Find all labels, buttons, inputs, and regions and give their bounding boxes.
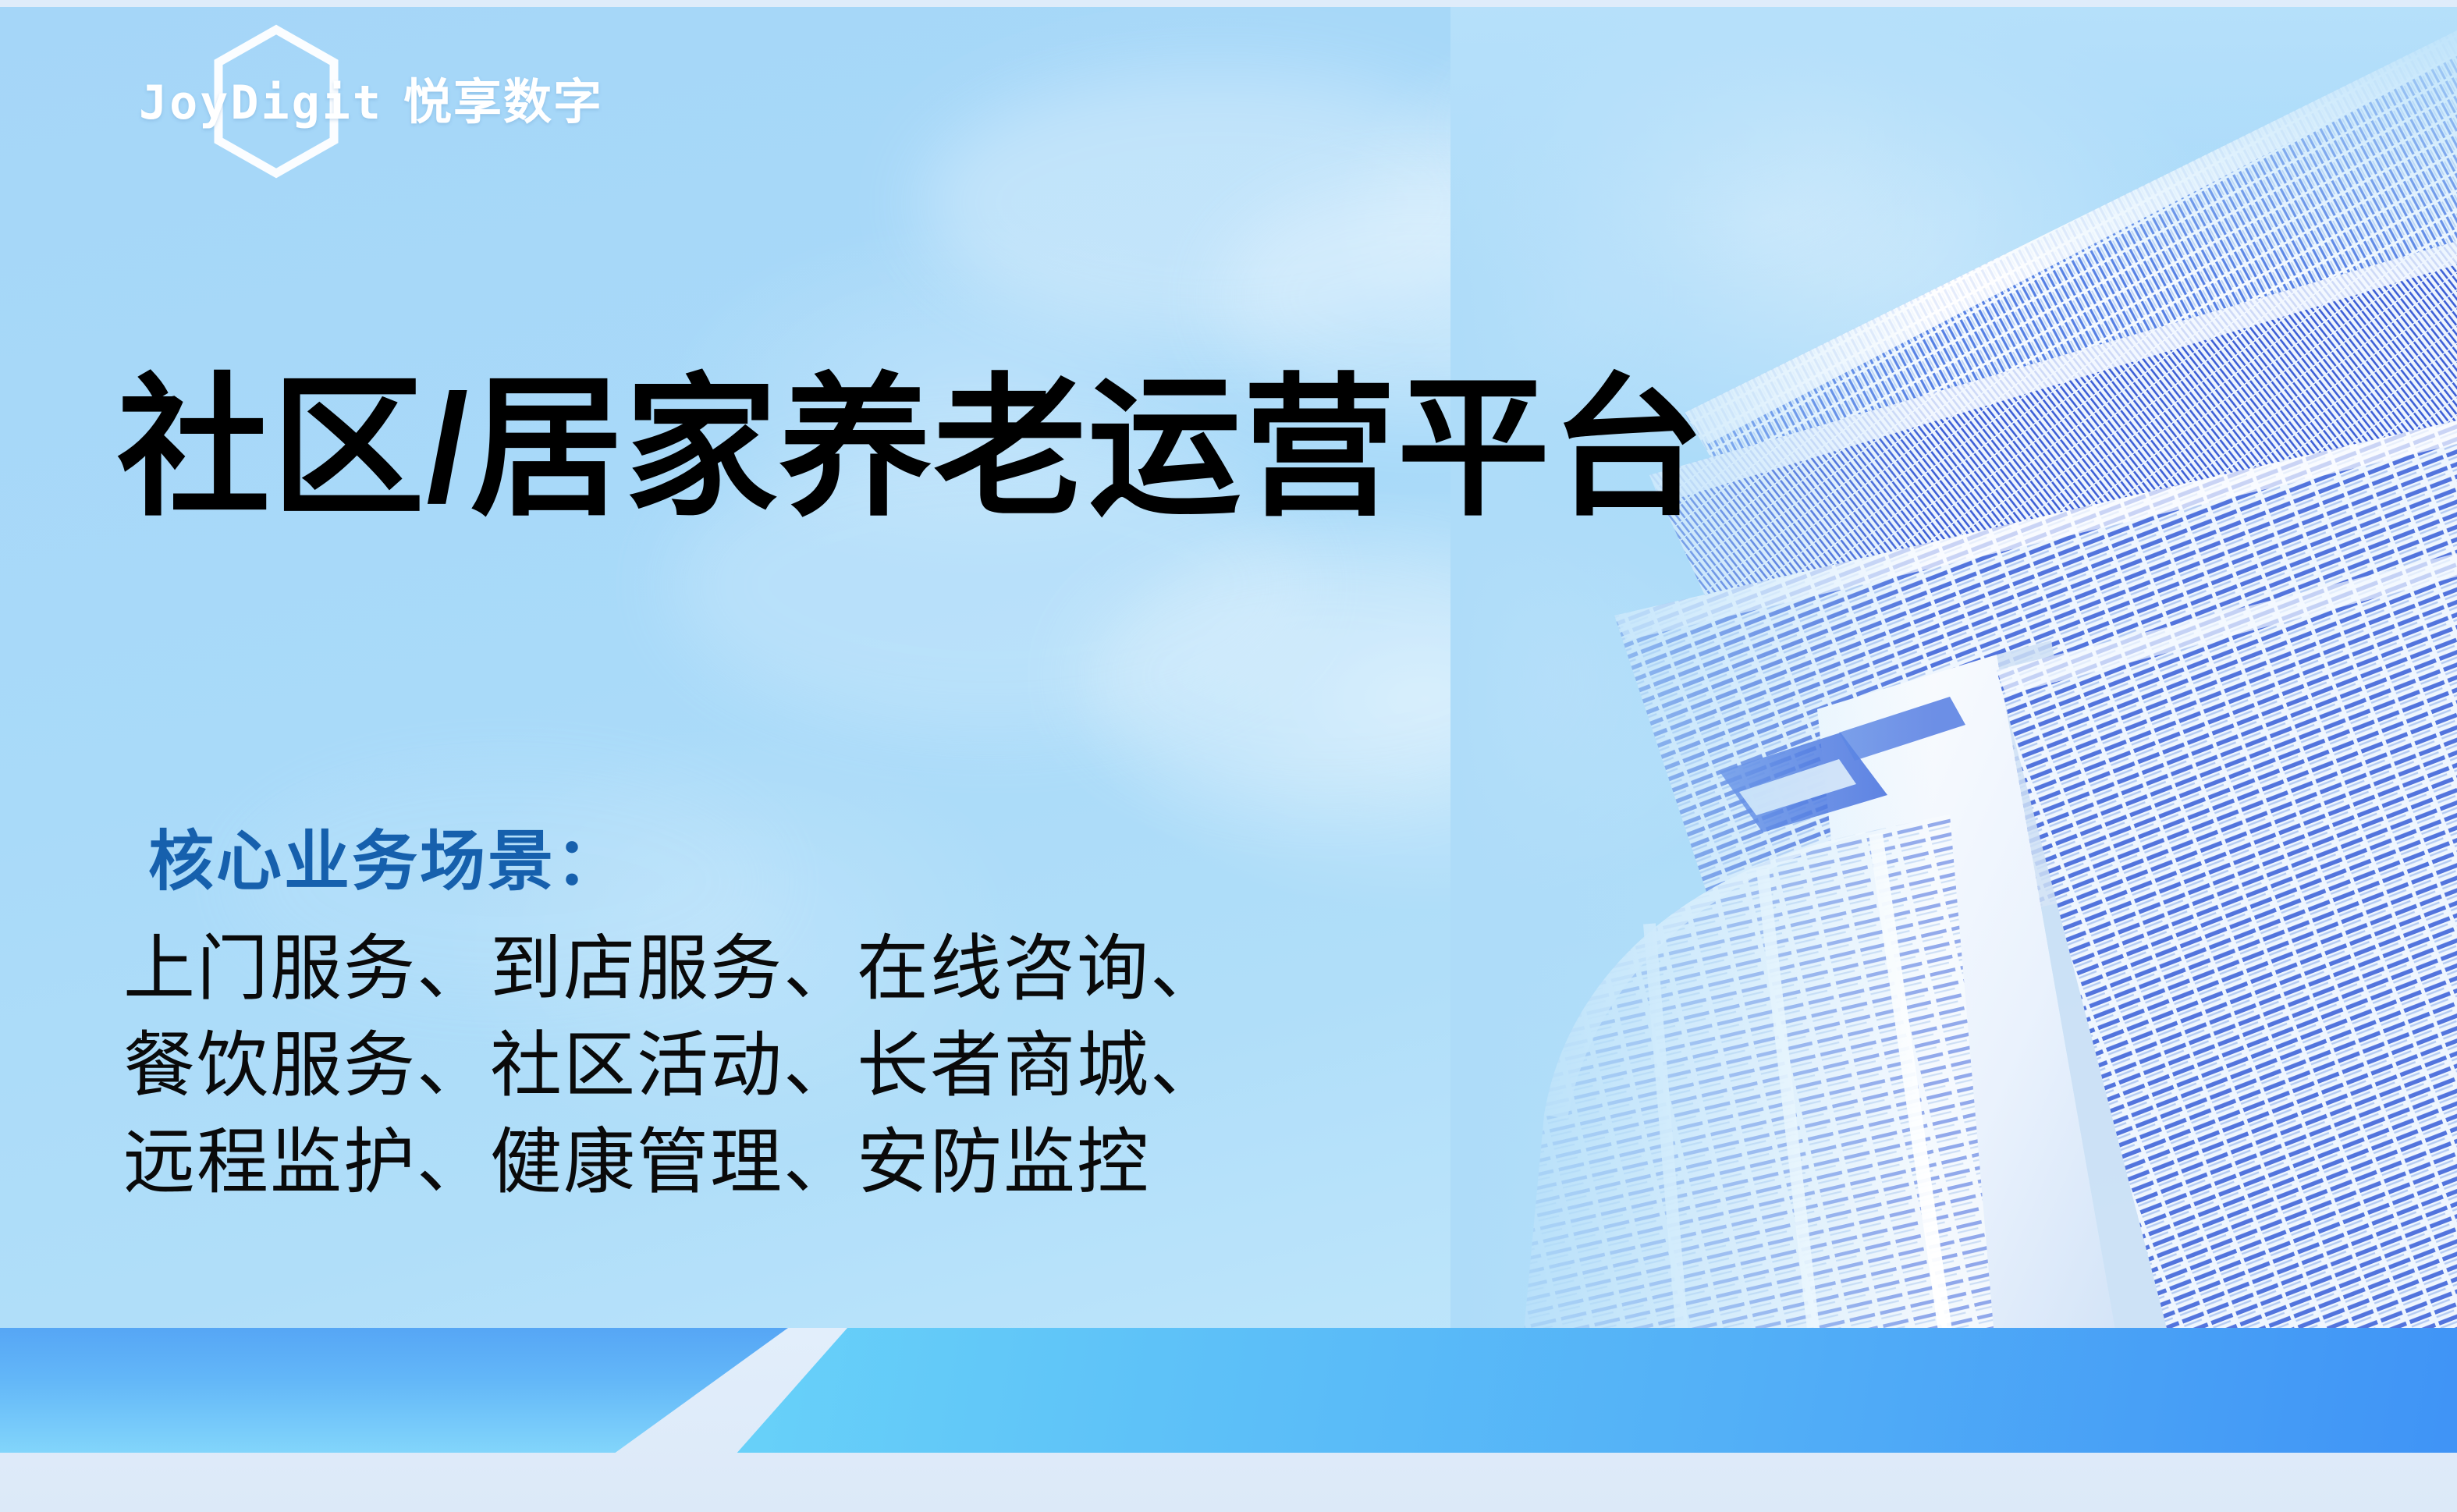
- bottom-decorative-band: [0, 1328, 2457, 1512]
- section-heading: 核心业务场景：: [148, 829, 623, 894]
- scenario-line: 远程监护、健康管理、安防监控: [123, 1114, 1223, 1211]
- scenario-line: 餐饮服务、社区活动、长者商城、: [123, 1017, 1223, 1114]
- wordmark-cn: 悦享数字: [403, 79, 603, 127]
- wordmark-en: JoyDigit: [139, 80, 383, 126]
- page-title: 社区/居家养老运营平台: [117, 367, 1706, 530]
- top-edge-strip: [0, 0, 2457, 7]
- band-shape-right: [694, 1328, 2457, 1453]
- brand-logo[interactable]: JoyDigit 悦享数字: [139, 66, 603, 140]
- scenario-line: 上门服务、到店服务、在线咨询、: [123, 921, 1223, 1017]
- skyscraper-photo: [1450, 7, 2457, 1365]
- scenario-list: 上门服务、到店服务、在线咨询、 餐饮服务、社区活动、长者商城、 远程监护、健康管…: [123, 921, 1223, 1212]
- slide-canvas: JoyDigit 悦享数字 社区/居家养老运营平台 核心业务场景： 上门服务、到…: [0, 0, 2457, 1512]
